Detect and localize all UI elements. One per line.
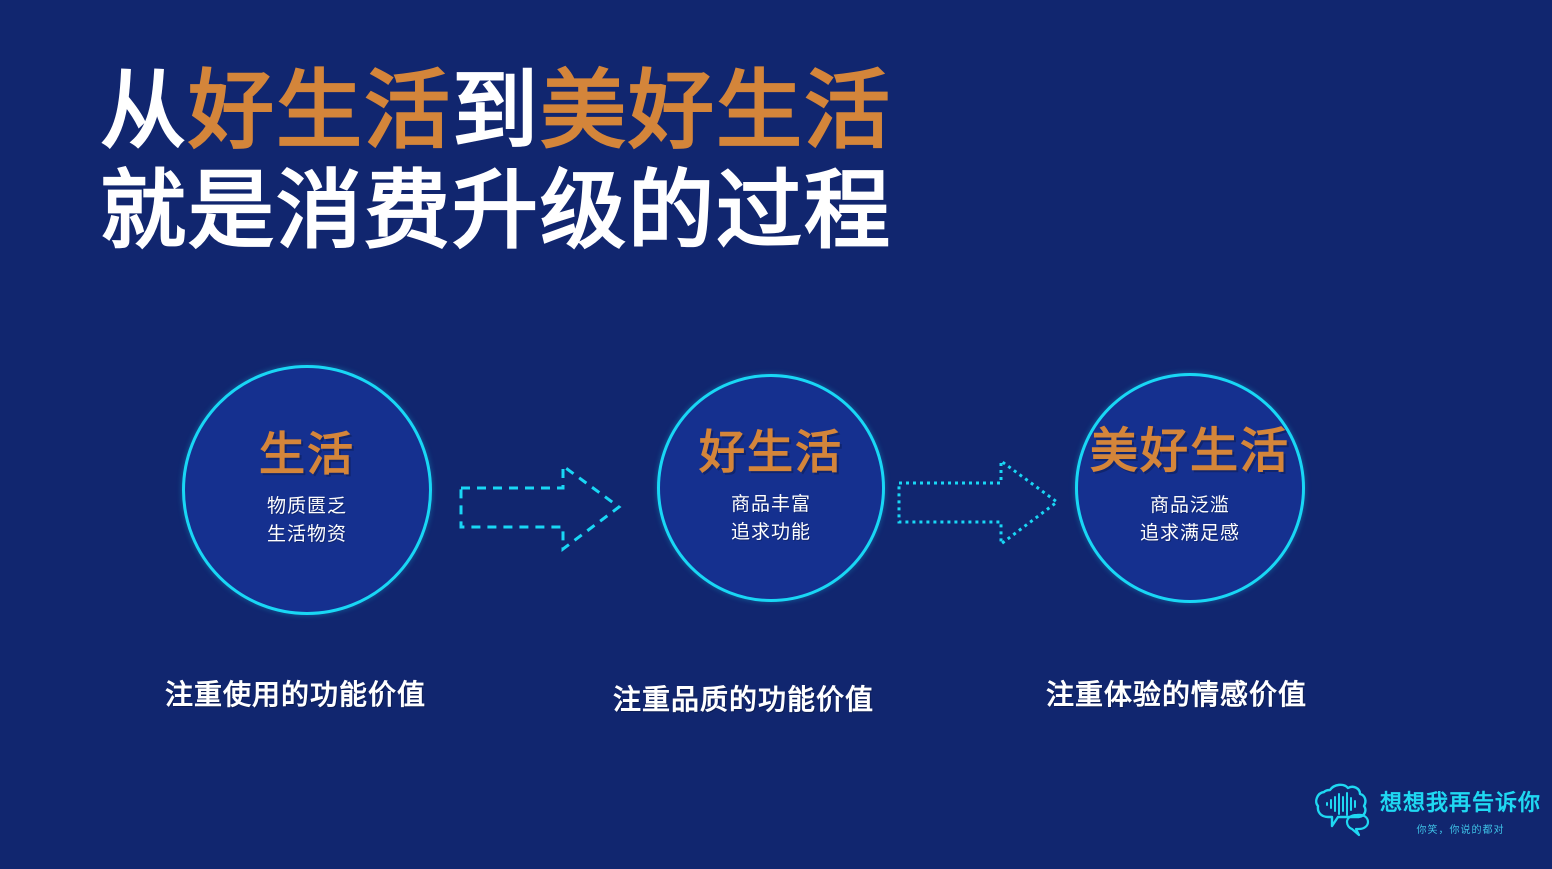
brand-tagline: 你笑，你说的都对 xyxy=(1417,821,1505,836)
flow-node-life: 生活 物质匮乏 生活物资 xyxy=(182,365,432,615)
speech-cloud-waveform-icon xyxy=(1312,781,1374,839)
flow-node-subtext-line-2: 追求功能 xyxy=(731,519,811,547)
flow-node-subtext-line-1: 商品泛滥 xyxy=(1140,492,1240,520)
brand-logo: 想想我再告诉你 你笑，你说的都对 xyxy=(1312,778,1534,842)
flow-node-title: 美好生活 xyxy=(1090,428,1290,476)
flow-caption-2: 注重品质的功能价值 xyxy=(613,678,874,718)
brand-logo-text: 想想我再告诉你 你笑，你说的都对 xyxy=(1380,785,1541,836)
title-segment-highlight-1: 好生活 xyxy=(188,63,452,159)
flow-caption-1: 注重使用的功能价值 xyxy=(165,673,426,713)
flow-node-good-life: 好生活 商品丰富 追求功能 xyxy=(657,374,885,602)
flow-diagram: 生活 物质匮乏 生活物资 好生活 商品丰富 追求功能 美好生活 xyxy=(0,365,1552,625)
flow-node-subtext-line-2: 生活物资 xyxy=(267,521,347,549)
title-line-1: 从好生活到美好生活 xyxy=(100,62,1100,162)
flow-node-subtext-line-1: 商品丰富 xyxy=(731,491,811,519)
brand-name: 想想我再告诉你 xyxy=(1380,785,1541,817)
dotted-arrow-right-icon xyxy=(893,455,1063,550)
flow-node-title: 好生活 xyxy=(699,429,843,475)
flow-node-subtext-line-2: 追求满足感 xyxy=(1140,520,1240,548)
flow-node-subtext: 商品丰富 追求功能 xyxy=(731,491,811,546)
dashed-arrow-right-icon xyxy=(455,460,625,555)
flow-node-title: 生活 xyxy=(259,431,355,477)
flow-node-subtext: 物质匮乏 生活物资 xyxy=(267,493,347,548)
page-title: 从好生活到美好生活 就是消费升级的过程 xyxy=(100,62,1100,262)
title-segment-plain-1: 从 xyxy=(100,63,188,159)
slide-canvas: 从好生活到美好生活 就是消费升级的过程 生活 物质匮乏 生活物资 好生活 商品丰… xyxy=(0,0,1552,869)
title-line-2: 就是消费升级的过程 xyxy=(100,162,1100,262)
flow-node-better-life: 美好生活 商品泛滥 追求满足感 xyxy=(1075,373,1305,603)
flow-node-subtext-line-1: 物质匮乏 xyxy=(267,493,347,521)
title-segment-plain-2: 到 xyxy=(452,63,540,159)
flow-caption-3: 注重体验的情感价值 xyxy=(1046,673,1307,713)
title-segment-highlight-2: 美好生活 xyxy=(540,63,892,159)
flow-node-subtext: 商品泛滥 追求满足感 xyxy=(1140,492,1240,547)
